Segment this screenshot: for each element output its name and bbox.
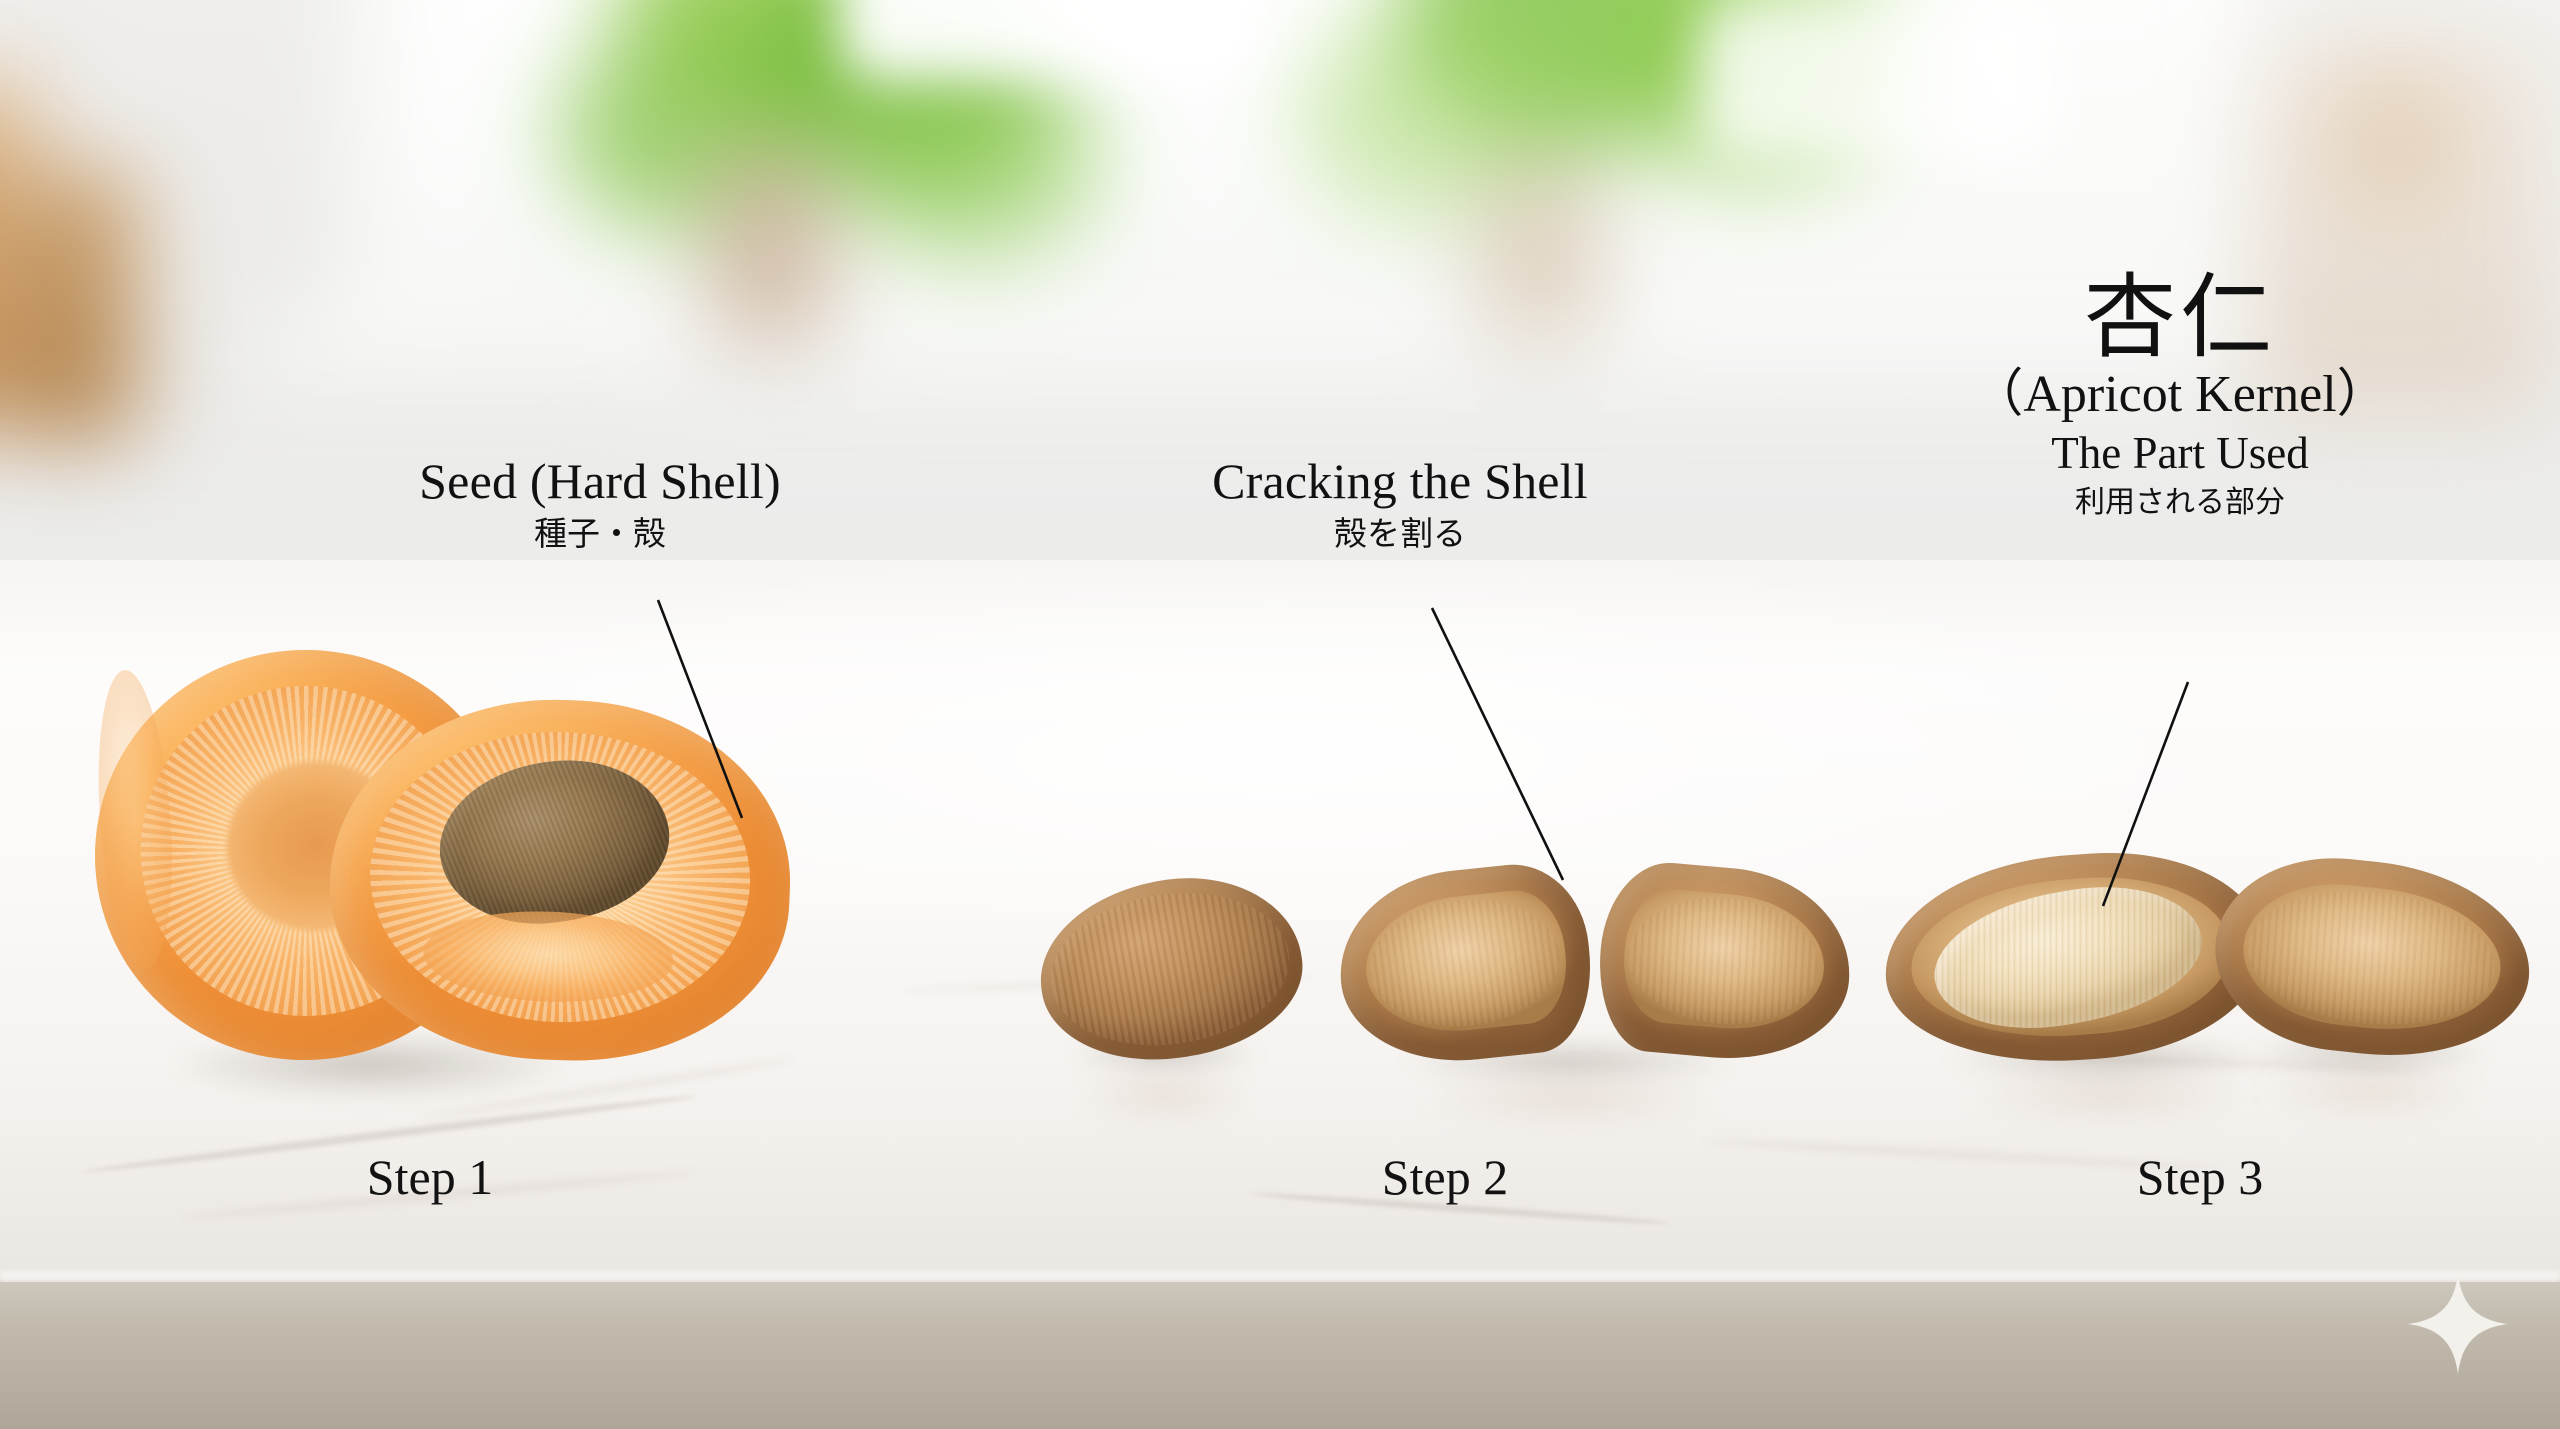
label-step3-subtitle-en: The Part Used <box>1800 428 2560 479</box>
step-caption-3: Step 3 <box>2000 1148 2400 1206</box>
label-step3-subtitle-ja: 利用される部分 <box>1800 483 2560 522</box>
label-step2-title-en: Cracking the Shell <box>1030 455 1770 507</box>
label-step1-title-ja: 種子・殻 <box>200 513 1000 558</box>
label-step3-hero-ja: 杏仁 <box>1800 272 2560 364</box>
step-caption-1: Step 1 <box>230 1148 630 1206</box>
label-step3: 杏仁 （Apricot Kernel） The Part Used 利用される部… <box>1800 272 2560 522</box>
leader-line-step3 <box>0 0 2560 1429</box>
label-step3-hero-reading-en: （Apricot Kernel） <box>1800 366 2560 424</box>
label-step1: Seed (Hard Shell) 種子・殻 <box>200 455 1000 558</box>
scene-root: Seed (Hard Shell) 種子・殻 Cracking the Shel… <box>0 0 2560 1429</box>
label-step2: Cracking the Shell 殻を割る <box>1030 455 1770 558</box>
step-caption-2: Step 2 <box>1245 1148 1645 1206</box>
label-step1-title-en: Seed (Hard Shell) <box>200 455 1000 507</box>
sparkle-icon <box>2406 1272 2510 1376</box>
label-step2-title-ja: 殻を割る <box>1030 513 1770 558</box>
